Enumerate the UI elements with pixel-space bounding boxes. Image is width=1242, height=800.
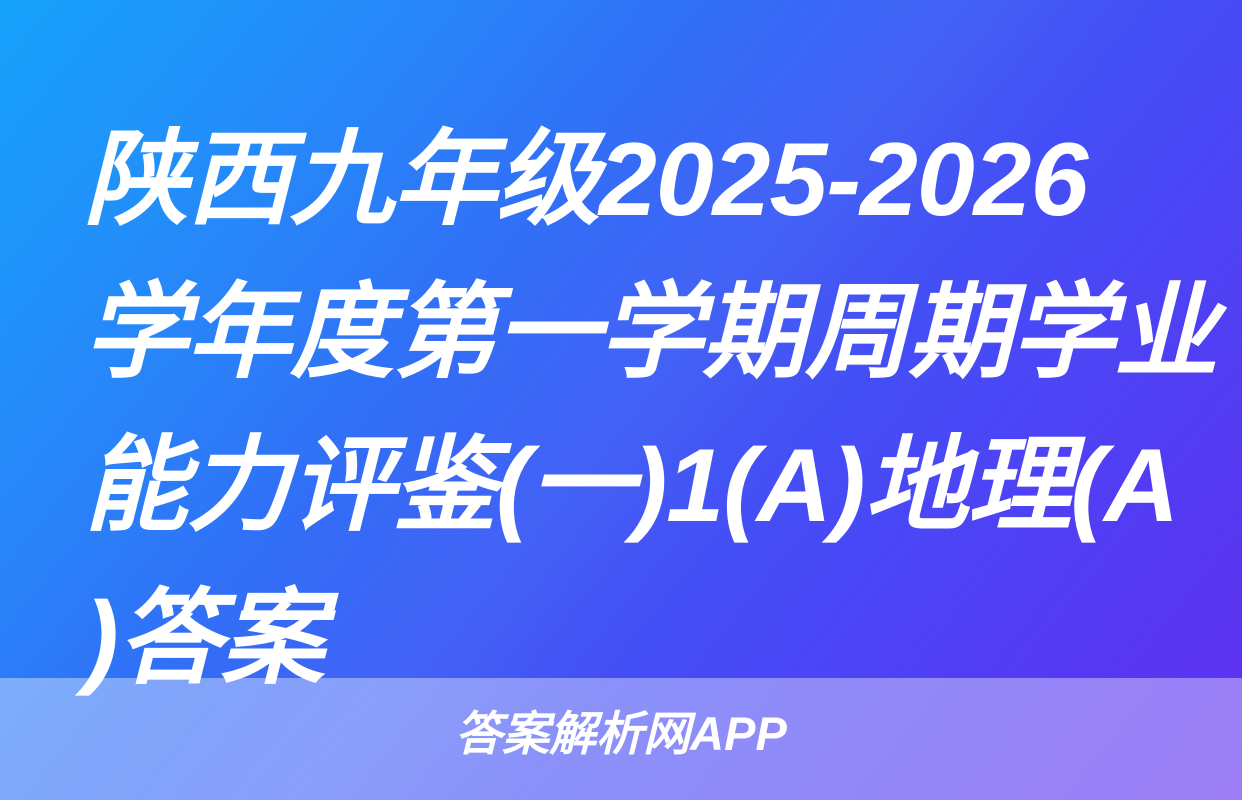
title-line-1: 陕西九年级2025-2026 [84, 104, 1174, 257]
poster-canvas: 陕西九年级2025-2026 学年度第一学期周期学业 能力评鉴(一)1(A)地理… [0, 0, 1242, 800]
page-title: 陕西九年级2025-2026 学年度第一学期周期学业 能力评鉴(一)1(A)地理… [84, 104, 1174, 716]
title-line-2: 学年度第一学期周期学业 [84, 257, 1174, 410]
title-line-3: 能力评鉴(一)1(A)地理(A [84, 410, 1174, 563]
footer-brand-label: 答案解析网APP [0, 706, 1242, 762]
